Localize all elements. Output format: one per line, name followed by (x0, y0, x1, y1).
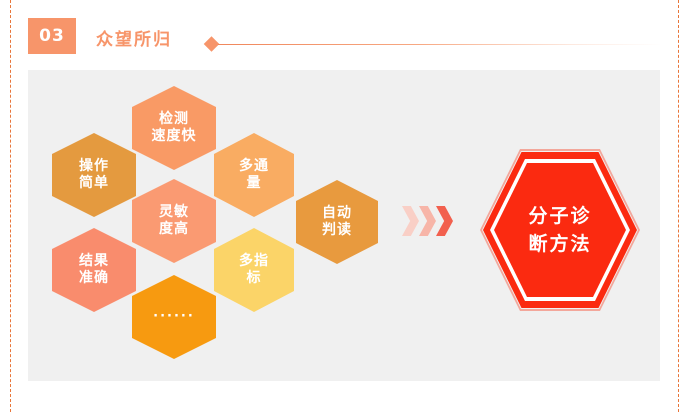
hexagon-face-jian-ce-su-du-kuai: 检测速度快 (132, 86, 216, 170)
hexagon-label-line2-duo-zhi-biao: 标 (247, 270, 262, 288)
hexagon-label-line1-ling-min-du-gao: 灵敏 (159, 204, 189, 222)
page-title: 众望所归 (96, 25, 172, 50)
hexagon-label-line2-duo-tong-liang: 量 (247, 175, 262, 193)
hexagon-label-line2-zi-dong-pan-du: 判读 (322, 222, 352, 240)
chevron-icon-1 (402, 206, 419, 236)
hexagon-label-line1-cao-zuo-jian-dan: 操作 (79, 158, 109, 176)
hexagon-zi-dong-pan-du: 自动判读 (296, 180, 378, 264)
hexagon-duo-tong-liang: 多通量 (214, 133, 294, 217)
hexagon-cao-zuo-jian-dan: 操作简单 (52, 133, 136, 217)
hexagon-face-duo-tong-liang: 多通量 (214, 133, 294, 217)
hexagon-ellipsis: ······ (132, 275, 216, 359)
hexagon-label-line2-jie-guo-zhun-que: 准确 (79, 270, 109, 288)
page-edge-dashed-line-right (678, 0, 679, 412)
chevron-icon-3 (436, 206, 453, 236)
hexagon-label-line2-cao-zuo-jian-dan: 简单 (79, 175, 109, 193)
result-label-line2: 断方法 (528, 230, 591, 259)
diamond-marker-icon (204, 36, 220, 52)
chevron-arrows (402, 206, 464, 236)
page-edge-dashed-line-left (10, 0, 11, 412)
hexagon-ling-min-du-gao: 灵敏度高 (132, 179, 216, 263)
hexagon-label-line2-ling-min-du-gao: 度高 (159, 221, 189, 239)
section-number-badge: 03 (28, 18, 76, 54)
hexagon-face-cao-zuo-jian-dan: 操作简单 (52, 133, 136, 217)
hexagon-label-line2-jian-ce-su-du-kuai: 速度快 (152, 128, 197, 146)
hexagon-label-line1-jie-guo-zhun-que: 结果 (79, 253, 109, 271)
header-divider-line (218, 44, 662, 45)
hexagon-label-line1-duo-zhi-biao: 多指 (239, 253, 269, 271)
hexagon-label-line1-duo-tong-liang: 多通 (239, 158, 269, 176)
hexagon-face-jie-guo-zhun-que: 结果准确 (52, 228, 136, 312)
hexagon-label-line1-zi-dong-pan-du: 自动 (322, 205, 352, 223)
hexagon-duo-zhi-biao: 多指标 (214, 228, 294, 312)
hexagon-label-line1-jian-ce-su-du-kuai: 检测 (159, 111, 189, 129)
result-label-line1: 分子诊 (528, 202, 591, 231)
result-hexagon: 分子诊 断方法 (483, 152, 637, 308)
hexagon-label-line1-ellipsis: ······ (153, 309, 195, 325)
hexagon-face-zi-dong-pan-du: 自动判读 (296, 180, 378, 264)
chevron-icon-2 (419, 206, 436, 236)
hexagon-face-ling-min-du-gao: 灵敏度高 (132, 179, 216, 263)
hexagon-jian-ce-su-du-kuai: 检测速度快 (132, 86, 216, 170)
hexagon-jie-guo-zhun-que: 结果准确 (52, 228, 136, 312)
hexagon-face-duo-zhi-biao: 多指标 (214, 228, 294, 312)
hexagon-face-ellipsis: ······ (132, 275, 216, 359)
section-header: 03 众望所归 (28, 18, 662, 54)
